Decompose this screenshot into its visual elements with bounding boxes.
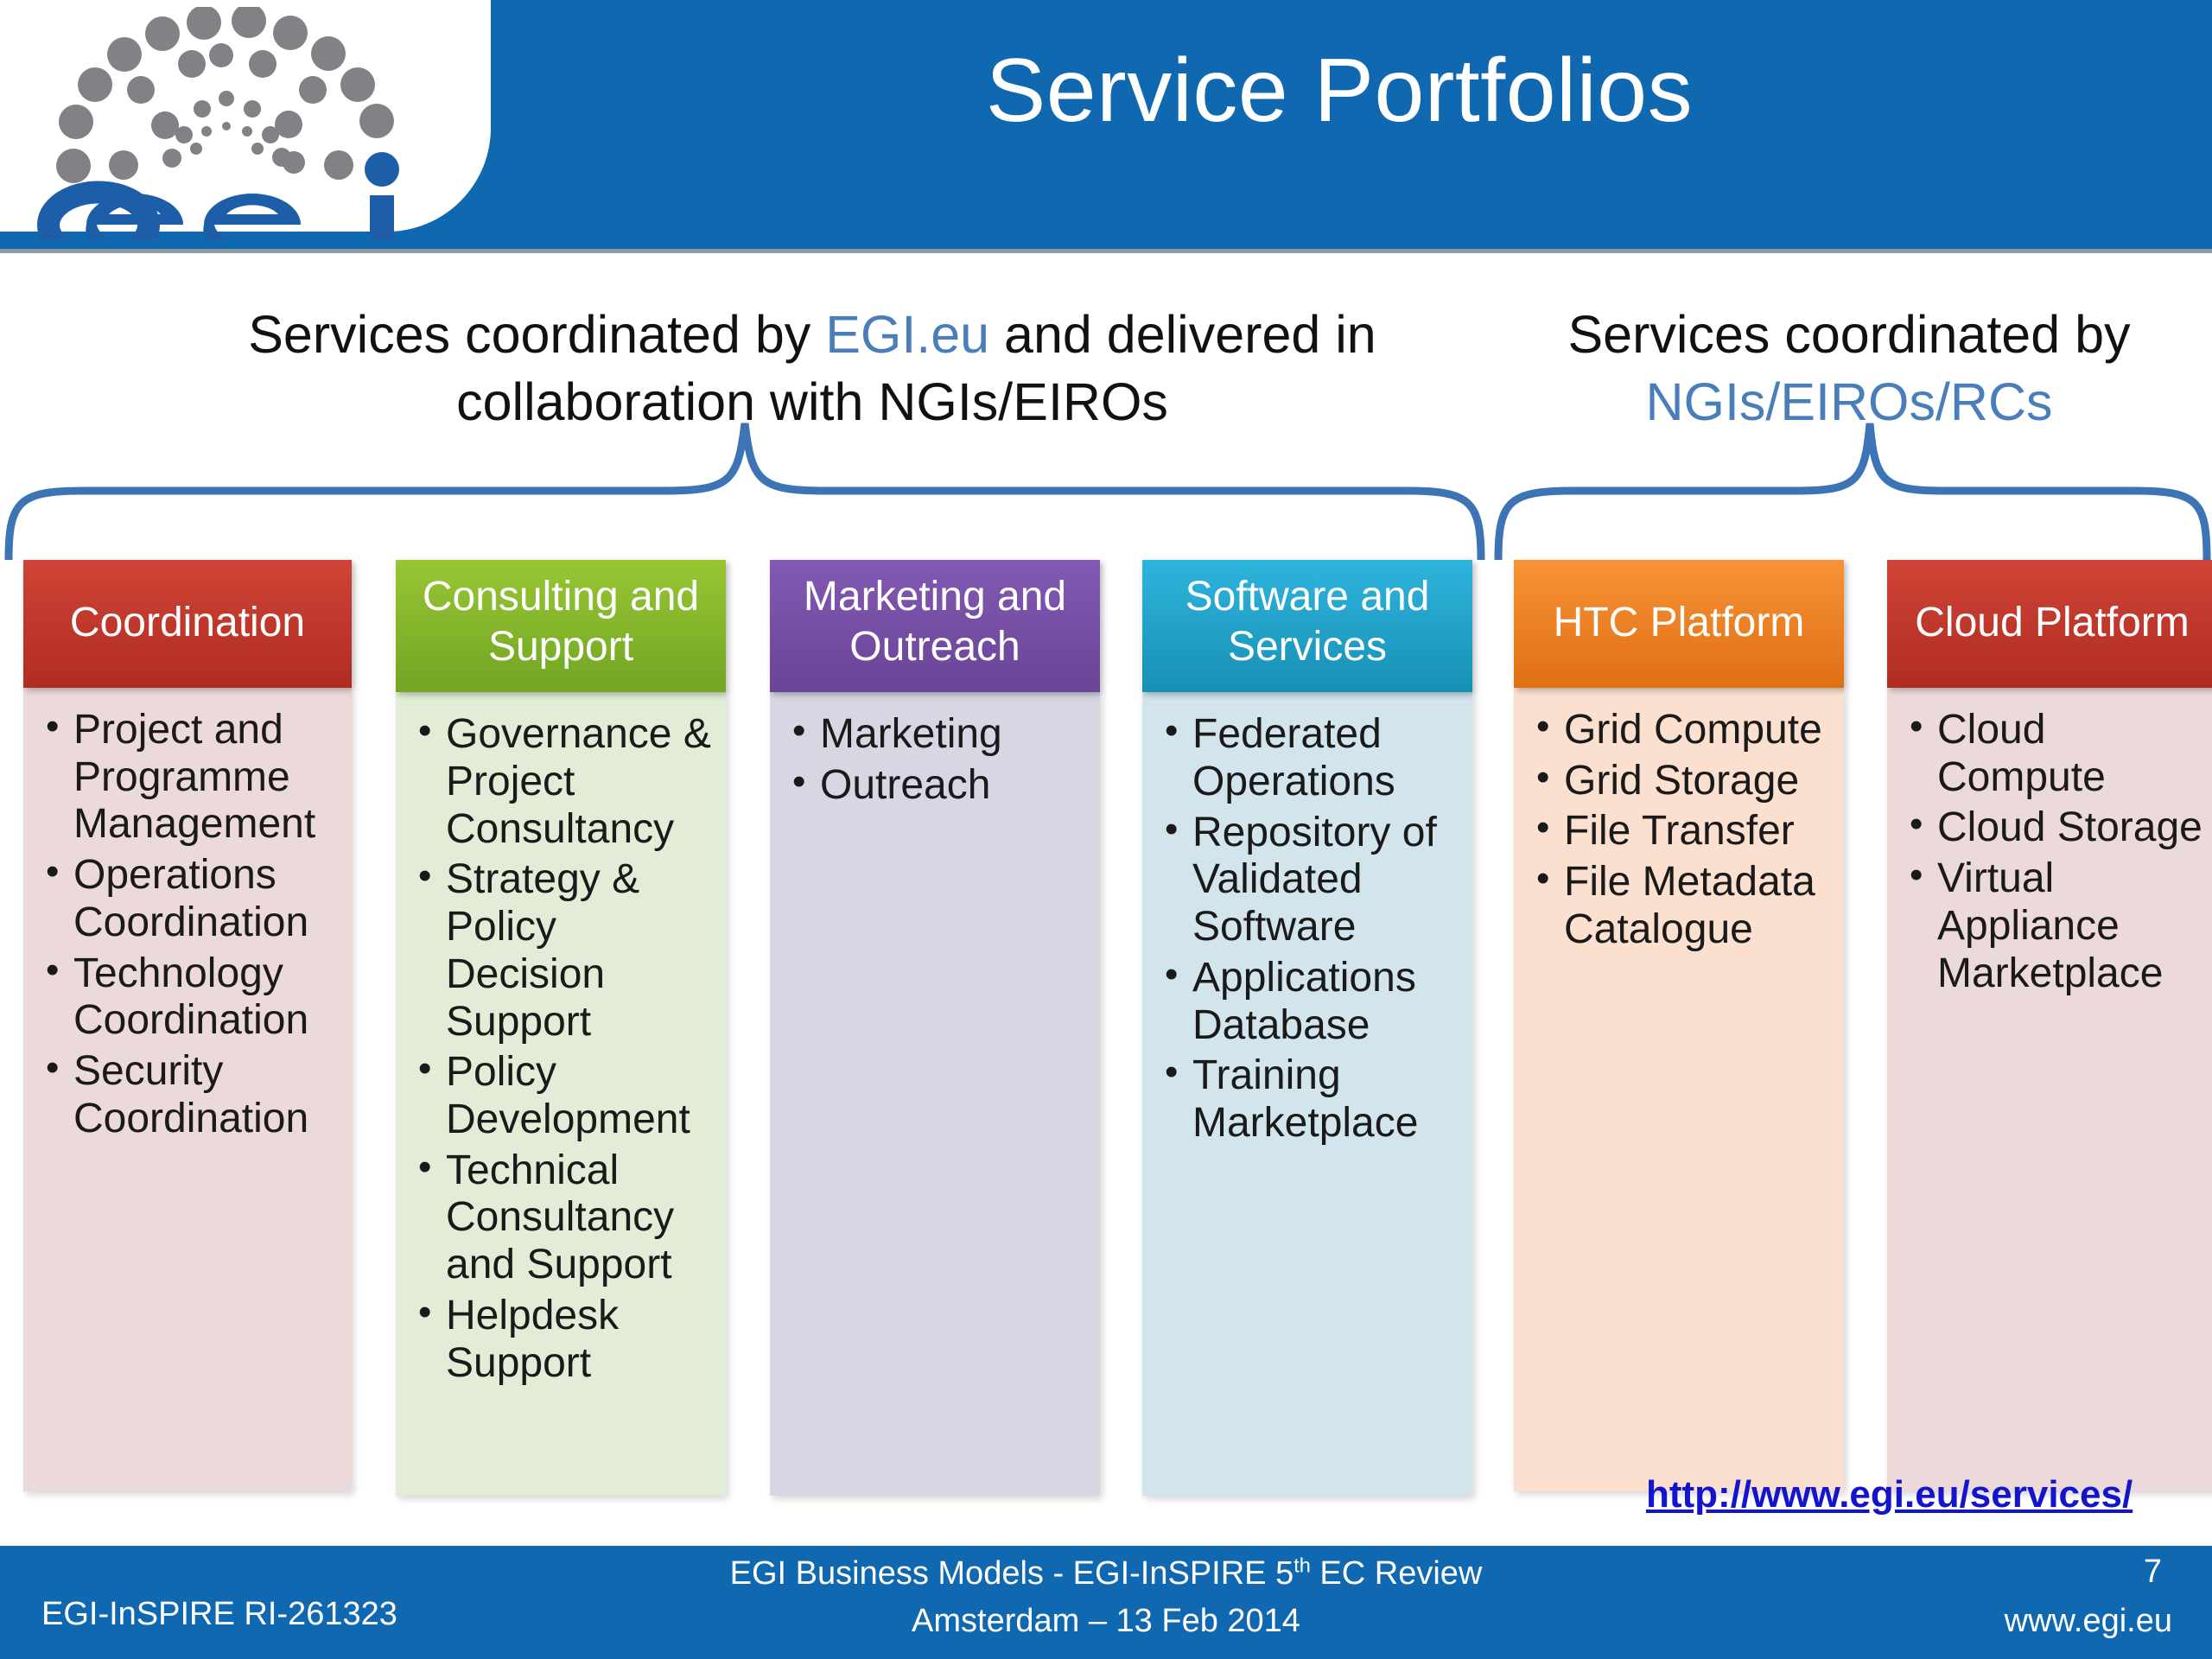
list-item: Technical Consultancy and Support	[415, 1147, 712, 1289]
column-body-0: Project and Programme ManagementOperatio…	[23, 688, 352, 1491]
footer-line-1: EGI Business Models - EGI-InSPIRE 5th EC…	[0, 1550, 2212, 1598]
subtitle-left-highlight: EGI.eu	[825, 305, 989, 364]
list-item: Grid Compute	[1533, 707, 1830, 754]
list-item: File Transfer	[1533, 808, 1830, 855]
list-item: Federated Operations	[1161, 711, 1459, 805]
column-header-2: Marketing and Outreach	[770, 560, 1100, 692]
column-body-2: MarketingOutreach	[770, 692, 1100, 1496]
slide-root: Service Portfolios	[0, 0, 2212, 1659]
brace-group	[0, 422, 2212, 560]
portfolio-column-coordination[interactable]: Coordination Project and Programme Manag…	[23, 560, 352, 1491]
footer-line1-sup: th	[1294, 1554, 1311, 1576]
subtitle-right-part1: Services coordinated by	[1567, 305, 2130, 364]
column-body-3: Federated OperationsRepository of Valida…	[1142, 692, 1472, 1496]
subtitle-left-part1: Services coordinated by	[248, 305, 825, 364]
column-header-1: Consulting and Support	[396, 560, 726, 692]
list-item: Technology Coordination	[42, 950, 338, 1045]
footer-project-id: EGI-InSPIRE RI-261323	[41, 1596, 397, 1633]
list-item: Cloud Compute	[1906, 707, 2203, 801]
list-item: Repository of Validated Software	[1161, 810, 1459, 951]
column-items-1: Governance & Project ConsultancyStrategy…	[415, 711, 712, 1387]
column-header-0: Coordination	[23, 560, 352, 688]
portfolio-column-marketing-and-outreach[interactable]: Marketing and Outreach MarketingOutreach	[770, 560, 1100, 1496]
list-item: Governance & Project Consultancy	[415, 711, 712, 853]
column-body-4: Grid ComputeGrid StorageFile TransferFil…	[1514, 688, 1844, 1491]
list-item: Marketing	[789, 711, 1086, 759]
column-items-2: MarketingOutreach	[789, 711, 1086, 809]
column-items-3: Federated OperationsRepository of Valida…	[1161, 711, 1459, 1147]
egi-logo	[35, 7, 423, 240]
list-item: Operations Coordination	[42, 852, 338, 946]
subtitle-right-highlight: NGIs/EIROs/RCs	[1645, 372, 2052, 431]
column-items-5: Cloud ComputeCloud StorageVirtual Applia…	[1906, 707, 2203, 997]
column-header-3: Software and Services	[1142, 560, 1472, 692]
list-item: Applications Database	[1161, 955, 1459, 1049]
column-header-5: Cloud Platform	[1887, 560, 2212, 688]
list-item: Virtual Appliance Marketplace	[1906, 855, 2203, 997]
list-item: Project and Programme Management	[42, 707, 338, 849]
footer-line1-post: EC Review	[1311, 1555, 1483, 1592]
page-title: Service Portfolios	[501, 41, 2177, 140]
column-header-4: HTC Platform	[1514, 560, 1844, 688]
footer-line1-pre: EGI Business Models - EGI-InSPIRE 5	[730, 1555, 1294, 1592]
subtitle-left: Services coordinated by EGI.eu and deliv…	[112, 301, 1512, 435]
portfolio-column-cloud-platform[interactable]: Cloud Platform Cloud ComputeCloud Storag…	[1887, 560, 2212, 1491]
column-body-5: Cloud ComputeCloud StorageVirtual Applia…	[1887, 688, 2212, 1491]
list-item: File Metadata Catalogue	[1533, 859, 1830, 953]
slide-page-number: 7	[2144, 1554, 2162, 1591]
portfolio-column-htc-platform[interactable]: HTC Platform Grid ComputeGrid StorageFil…	[1514, 560, 1844, 1491]
list-item: Grid Storage	[1533, 758, 1830, 805]
list-item: Training Marketplace	[1161, 1052, 1459, 1147]
list-item: Outreach	[789, 762, 1086, 810]
brace-right	[1498, 423, 2207, 560]
footer-website: www.egi.eu	[2005, 1603, 2172, 1640]
portfolio-column-consulting-and-support[interactable]: Consulting and Support Governance & Proj…	[396, 560, 726, 1496]
header-underline	[0, 249, 2212, 253]
list-item: Cloud Storage	[1906, 804, 2203, 852]
portfolio-column-software-and-services[interactable]: Software and Services Federated Operatio…	[1142, 560, 1472, 1496]
column-items-0: Project and Programme ManagementOperatio…	[42, 707, 338, 1142]
services-url-link[interactable]: http://www.egi.eu/services/	[1646, 1473, 2133, 1516]
column-body-1: Governance & Project ConsultancyStrategy…	[396, 692, 726, 1496]
list-item: Strategy & Policy Decision Support	[415, 856, 712, 1046]
list-item: Security Coordination	[42, 1048, 338, 1142]
list-item: Policy Development	[415, 1049, 712, 1143]
brace-left	[9, 423, 1481, 560]
list-item: Helpdesk Support	[415, 1293, 712, 1387]
column-items-4: Grid ComputeGrid StorageFile TransferFil…	[1533, 707, 1830, 954]
subtitle-right: Services coordinated by NGIs/EIROs/RCs	[1503, 301, 2195, 435]
